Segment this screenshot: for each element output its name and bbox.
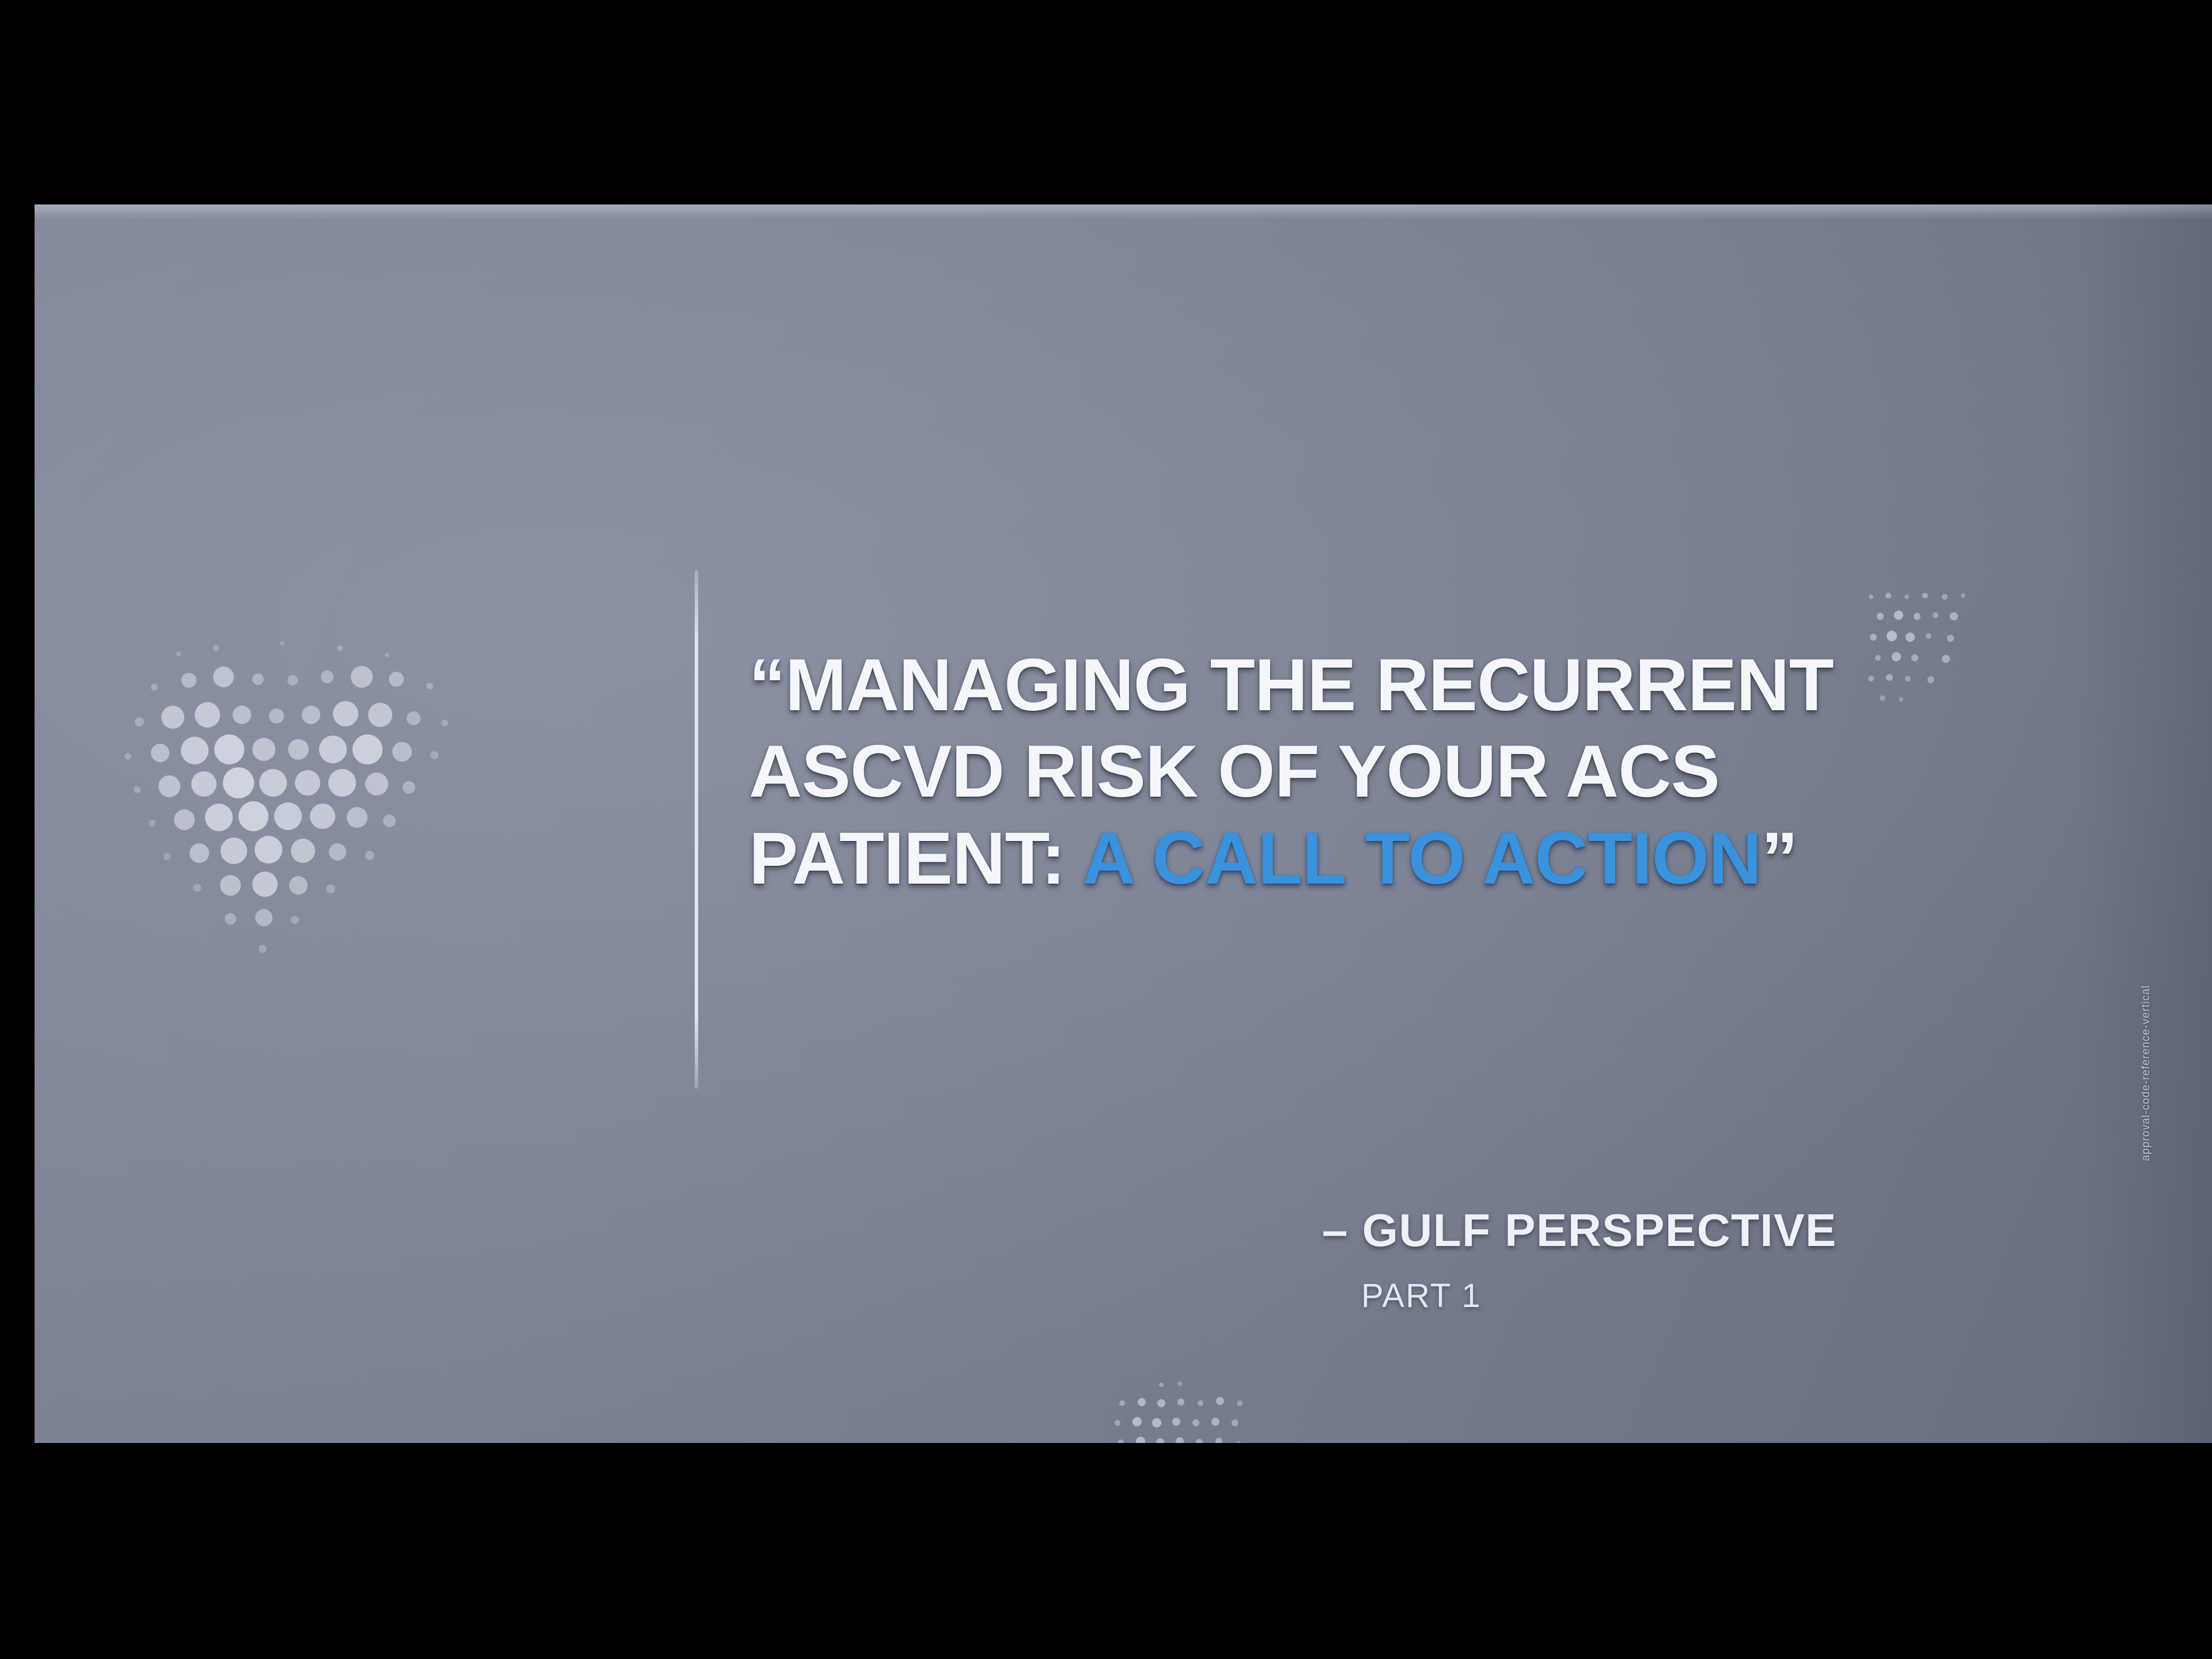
slide-subtitle: – GULF PERSPECTIVE PART 1 xyxy=(1322,1204,2002,1315)
opening-quote-mark: “ xyxy=(749,644,785,726)
letterbox-bar-left xyxy=(0,0,35,1659)
slide-title: “MANAGING THE RECURRENT ASCVD RISK OF YO… xyxy=(749,642,1976,902)
title-line-3: PATIENT: A CALL TO ACTION” xyxy=(749,816,1976,902)
subtitle-part-number: PART 1 xyxy=(1361,1277,2002,1315)
vertical-divider-rule xyxy=(695,570,698,1089)
title-line-3-prefix: PATIENT: xyxy=(749,817,1065,900)
closing-quote-mark: ” xyxy=(1761,817,1797,900)
dot-grid-cluster-bottom xyxy=(1106,1377,1262,1443)
title-line-2: ASCVD RISK OF YOUR ACS xyxy=(749,729,1976,815)
presentation-slide: “MANAGING THE RECURRENT ASCVD RISK OF YO… xyxy=(35,204,2212,1443)
title-line-3-accent: A CALL TO ACTION xyxy=(1082,817,1762,900)
title-line-1: “MANAGING THE RECURRENT xyxy=(749,642,1976,729)
video-frame: “MANAGING THE RECURRENT ASCVD RISK OF YO… xyxy=(0,0,2212,1659)
title-line-2-text: ASCVD RISK OF YOUR ACS xyxy=(749,730,1719,813)
subtitle-perspective: – GULF PERSPECTIVE xyxy=(1322,1204,2002,1257)
letterbox-bar-top xyxy=(0,0,2212,204)
approval-code-vertical: approval-code-reference-vertical xyxy=(2140,985,2153,1161)
letterbox-bar-bottom xyxy=(0,1443,2212,1659)
title-line-1-text: MANAGING THE RECURRENT xyxy=(785,644,1834,726)
dotted-heart-graphic xyxy=(92,631,472,988)
